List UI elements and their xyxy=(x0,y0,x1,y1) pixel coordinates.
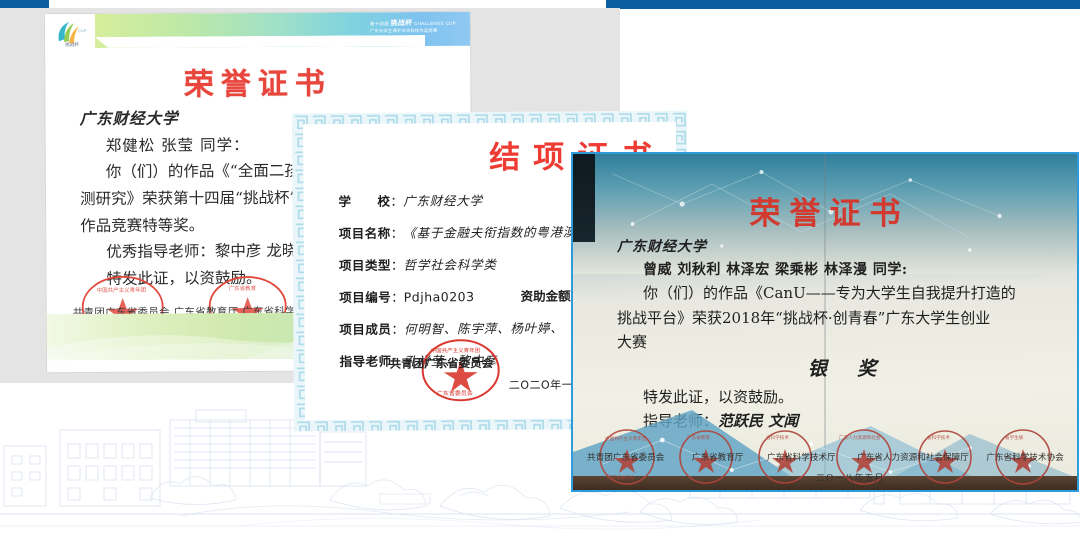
banner-title-en: CHALLENGE CUP xyxy=(414,21,456,26)
svg-text:广东人力资源和社会: 广东人力资源和社会 xyxy=(839,434,881,441)
certificate-1-header-step xyxy=(95,35,425,48)
banner-edition: 第十四届 xyxy=(370,21,389,26)
svg-text:中国共产主义青年团: 中国共产主义青年团 xyxy=(97,286,147,294)
certificate-3-body-line-1: 你（们）的作品《CanU——专为大学生自我提升打造的 xyxy=(617,281,1067,305)
field-label-project-id: 项目编号 xyxy=(339,287,391,306)
certificate-2-organization: 共青团广东省委员会 xyxy=(390,355,494,372)
certificate-3-title: 荣誉证书 xyxy=(573,188,1077,233)
svg-text:省学生联: 省学生联 xyxy=(1005,434,1024,441)
certificate-3-body-line-2: 挑战平台》荣获2018年“挑战杯·创青春”广东大学生创业 xyxy=(617,306,1067,330)
svg-text:广东省教育: 广东省教育 xyxy=(229,284,257,292)
certificate-3-award-level: 银 奖 xyxy=(617,354,1067,385)
certificate-3-university: 广东财经大学 xyxy=(617,236,1067,259)
svg-text:广东省委员会: 广东省委员会 xyxy=(607,474,635,481)
certificate-3-date: 二O一八年五月 xyxy=(816,471,884,484)
field-label-school: 学 校 xyxy=(338,191,390,210)
svg-text:CUP: CUP xyxy=(78,28,87,33)
field-label-project-type: 项目类型 xyxy=(339,255,391,274)
field-label-funding-amount: 资助金额 xyxy=(520,285,570,304)
org-2: 广东省教育厅 xyxy=(692,451,744,463)
top-accent-bar-right xyxy=(606,0,1080,9)
certificate-3-recipients: 曾威 刘秋利 林泽宏 梁乘彬 林泽漫 同学: xyxy=(643,259,1067,282)
field-label-project-name: 项目名称 xyxy=(339,223,391,242)
org-5: 广东省科学技术协会 xyxy=(986,451,1063,463)
svg-text:省科学技术: 省科学技术 xyxy=(766,434,789,441)
svg-text:中国共产主义青年团: 中国共产主义青年团 xyxy=(431,346,481,354)
org-3: 广东省科学技术厅 xyxy=(767,451,836,463)
banner-subtitle: 广东大学生课外学术科技作品竞赛 xyxy=(370,28,456,34)
banner-title: 挑战杯 xyxy=(391,20,413,27)
field-value-school: 广东财经大学 xyxy=(403,190,483,210)
svg-text:挑战杯: 挑战杯 xyxy=(65,41,79,47)
field-label-advisors: 指导老师 xyxy=(340,351,392,370)
challenge-cup-logo-icon: CUP 挑战杯 xyxy=(53,19,93,47)
field-label-members: 项目成员 xyxy=(339,319,391,338)
svg-text:省科学技术: 省科学技术 xyxy=(927,434,950,441)
certificate-1-banner-text: 第十四届 挑战杯 CHALLENGE CUP 广东大学生课外学术科技作品竞赛 xyxy=(370,19,456,35)
certificate-3-body-line-3: 大赛 xyxy=(617,330,1067,354)
field-value-project-id: Pdjha0203 xyxy=(404,289,475,304)
svg-text:广东省委员会: 广东省委员会 xyxy=(437,389,473,397)
collage-stage: CUP 挑战杯 第十四届 挑战杯 CHALLENGE CUP 广东大学生课外学术… xyxy=(0,0,1080,536)
svg-text:广东省教育: 广东省教育 xyxy=(687,434,710,441)
certificate-honor-2018[interactable]: 荣誉证书 广东财经大学 曾威 刘秋利 林泽宏 梁乘彬 林泽漫 同学: 你（们）的… xyxy=(571,152,1079,492)
certificate-3-organizations: 共青团广东省委员会 广东省教育厅 广东省科学技术厅 广东省人力资源和社会保障厅 … xyxy=(587,451,1077,463)
field-value-members: 何明智、陈宇萍、杨叶婷、 xyxy=(404,317,564,337)
svg-text:中国共产主义青年团: 中国共产主义青年团 xyxy=(605,435,647,442)
field-value-project-name: 《基于金融夫衔指数的粤港澳大 xyxy=(403,221,589,241)
field-value-project-type: 哲学社会科学类 xyxy=(403,254,496,274)
org-4: 广东省人力资源和社会保障厅 xyxy=(857,451,969,463)
org-1: 共青团广东省委员会 xyxy=(587,451,664,463)
certificate-1-title: 荣誉证书 xyxy=(45,58,470,105)
